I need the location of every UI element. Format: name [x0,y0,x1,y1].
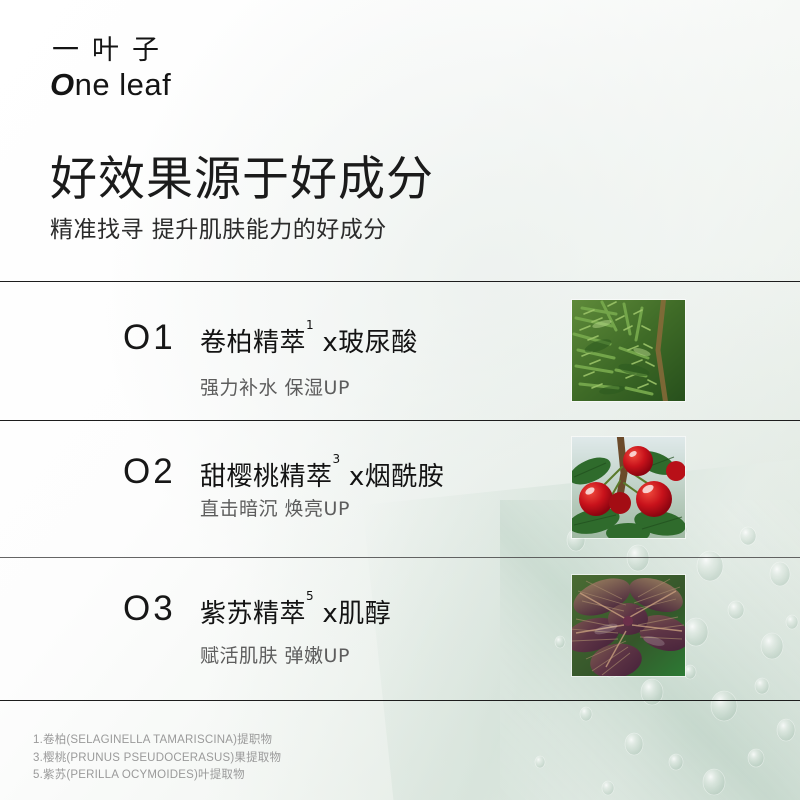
selaginella-foliage-photo [572,300,685,401]
row-number: O2 [123,452,176,492]
row-title: 紫苏精萃5 x肌醇 [200,593,391,630]
brand-logo: 一叶子 One leaf [50,36,250,102]
footnote-item: 1.卷柏(SELAGINELLA TAMARISCINA)提职物 [33,732,281,750]
divider-bottom [0,700,800,701]
brand-logo-cn: 一叶子 [52,36,250,66]
row-title-tail: x玻尿酸 [314,328,418,358]
row-title-main: 紫苏精萃 [200,599,306,629]
row-title-tail: x肌醇 [314,599,392,629]
row-title-tail: x烟酰胺 [340,462,444,492]
product-ingredient-infographic: 一叶子 One leaf 好效果源于好成分 精准找寻 提升肌肤能力的好成分 O1… [0,0,800,800]
divider-row-1 [0,420,800,421]
divider-row-2 [0,557,800,558]
row-title-main: 甜樱桃精萃 [200,462,333,492]
row-title-footnote-marker: 3 [333,452,341,466]
brand-logo-en: One leaf [50,68,250,102]
row-title: 甜樱桃精萃3 x烟酰胺 [200,456,444,493]
row-title-footnote-marker: 1 [306,318,314,332]
divider-top [0,281,800,282]
brand-logo-en-initial: O [50,67,75,102]
brand-logo-en-rest: ne leaf [75,67,172,102]
page-subtitle: 精准找寻 提升肌肤能力的好成分 [50,210,387,244]
row-number: O3 [123,589,176,629]
footnote-list: 1.卷柏(SELAGINELLA TAMARISCINA)提职物 3.樱桃(PR… [33,732,281,785]
row-subtitle: 强力补水 保湿UP [200,373,350,400]
row-subtitle: 赋活肌肤 弹嫩UP [200,641,350,668]
footnote-item: 3.樱桃(PRUNUS PSEUDOCERASUS)果提取物 [33,750,281,768]
row-number: O1 [123,318,176,358]
sweet-cherry-fruit-photo [572,437,685,538]
footnote-item: 5.紫苏(PERILLA OCYMOIDES)叶提取物 [33,767,281,785]
perilla-leaf-photo [572,575,685,676]
page-title: 好效果源于好成分 [50,140,434,209]
row-subtitle: 直击暗沉 焕亮UP [200,494,350,521]
row-title-main: 卷柏精萃 [200,328,306,358]
row-title-footnote-marker: 5 [306,589,314,603]
row-title: 卷柏精萃1 x玻尿酸 [200,322,418,359]
